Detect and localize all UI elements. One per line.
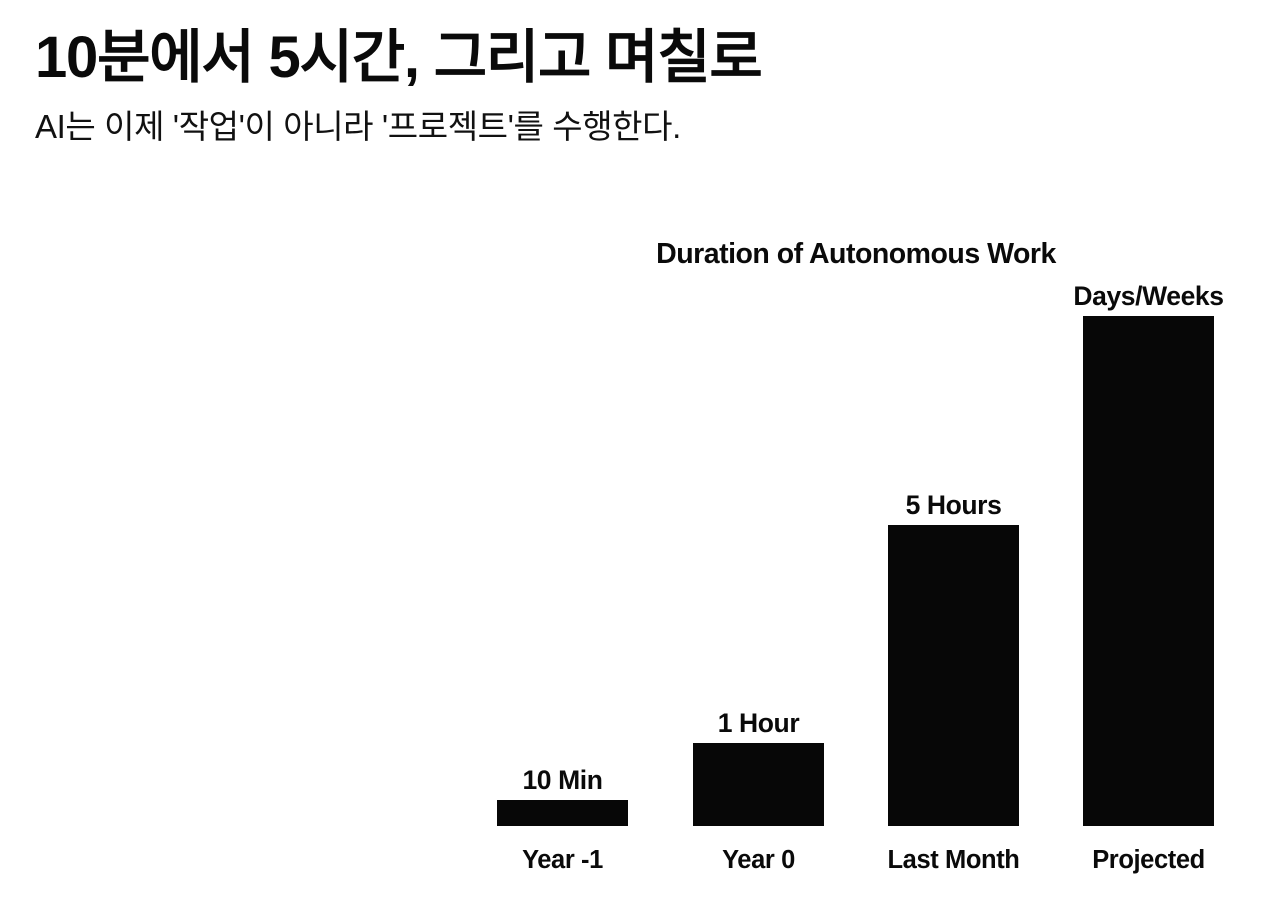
bar-chart: Duration of Autonomous Work 10 Min Year … [0,228,1261,908]
bar-rect[interactable] [1083,316,1214,826]
headline-block: 10분에서 5시간, 그리고 며칠로 AI는 이제 '작업'이 아니라 '프로젝… [35,26,1225,147]
bar-value-label: 10 Min [457,765,668,796]
x-axis-label-year-0: Year 0 [648,846,869,875]
bar-rect[interactable] [497,800,628,826]
bar-value-label: 5 Hours [848,490,1059,521]
page-title: 10분에서 5시간, 그리고 며칠로 [35,26,1225,91]
page-subtitle: AI는 이제 '작업'이 아니라 '프로젝트'를 수행한다. [35,107,1225,147]
bar-rect[interactable] [888,525,1019,826]
bar-rect[interactable] [693,743,824,826]
bar-value-label: 1 Hour [653,708,864,739]
x-axis-label-last-month: Last Month [843,846,1064,875]
x-axis-label-year-minus-1: Year -1 [452,846,673,875]
bar-value-label: Days/Weeks [1043,281,1254,312]
x-axis-label-projected: Projected [1038,846,1259,875]
chart-plot-area: 10 Min Year -1 1 Hour Year 0 5 Hours Las… [0,228,1261,908]
slide-canvas: 10분에서 5시간, 그리고 며칠로 AI는 이제 '작업'이 아니라 '프로젝… [0,0,1261,908]
